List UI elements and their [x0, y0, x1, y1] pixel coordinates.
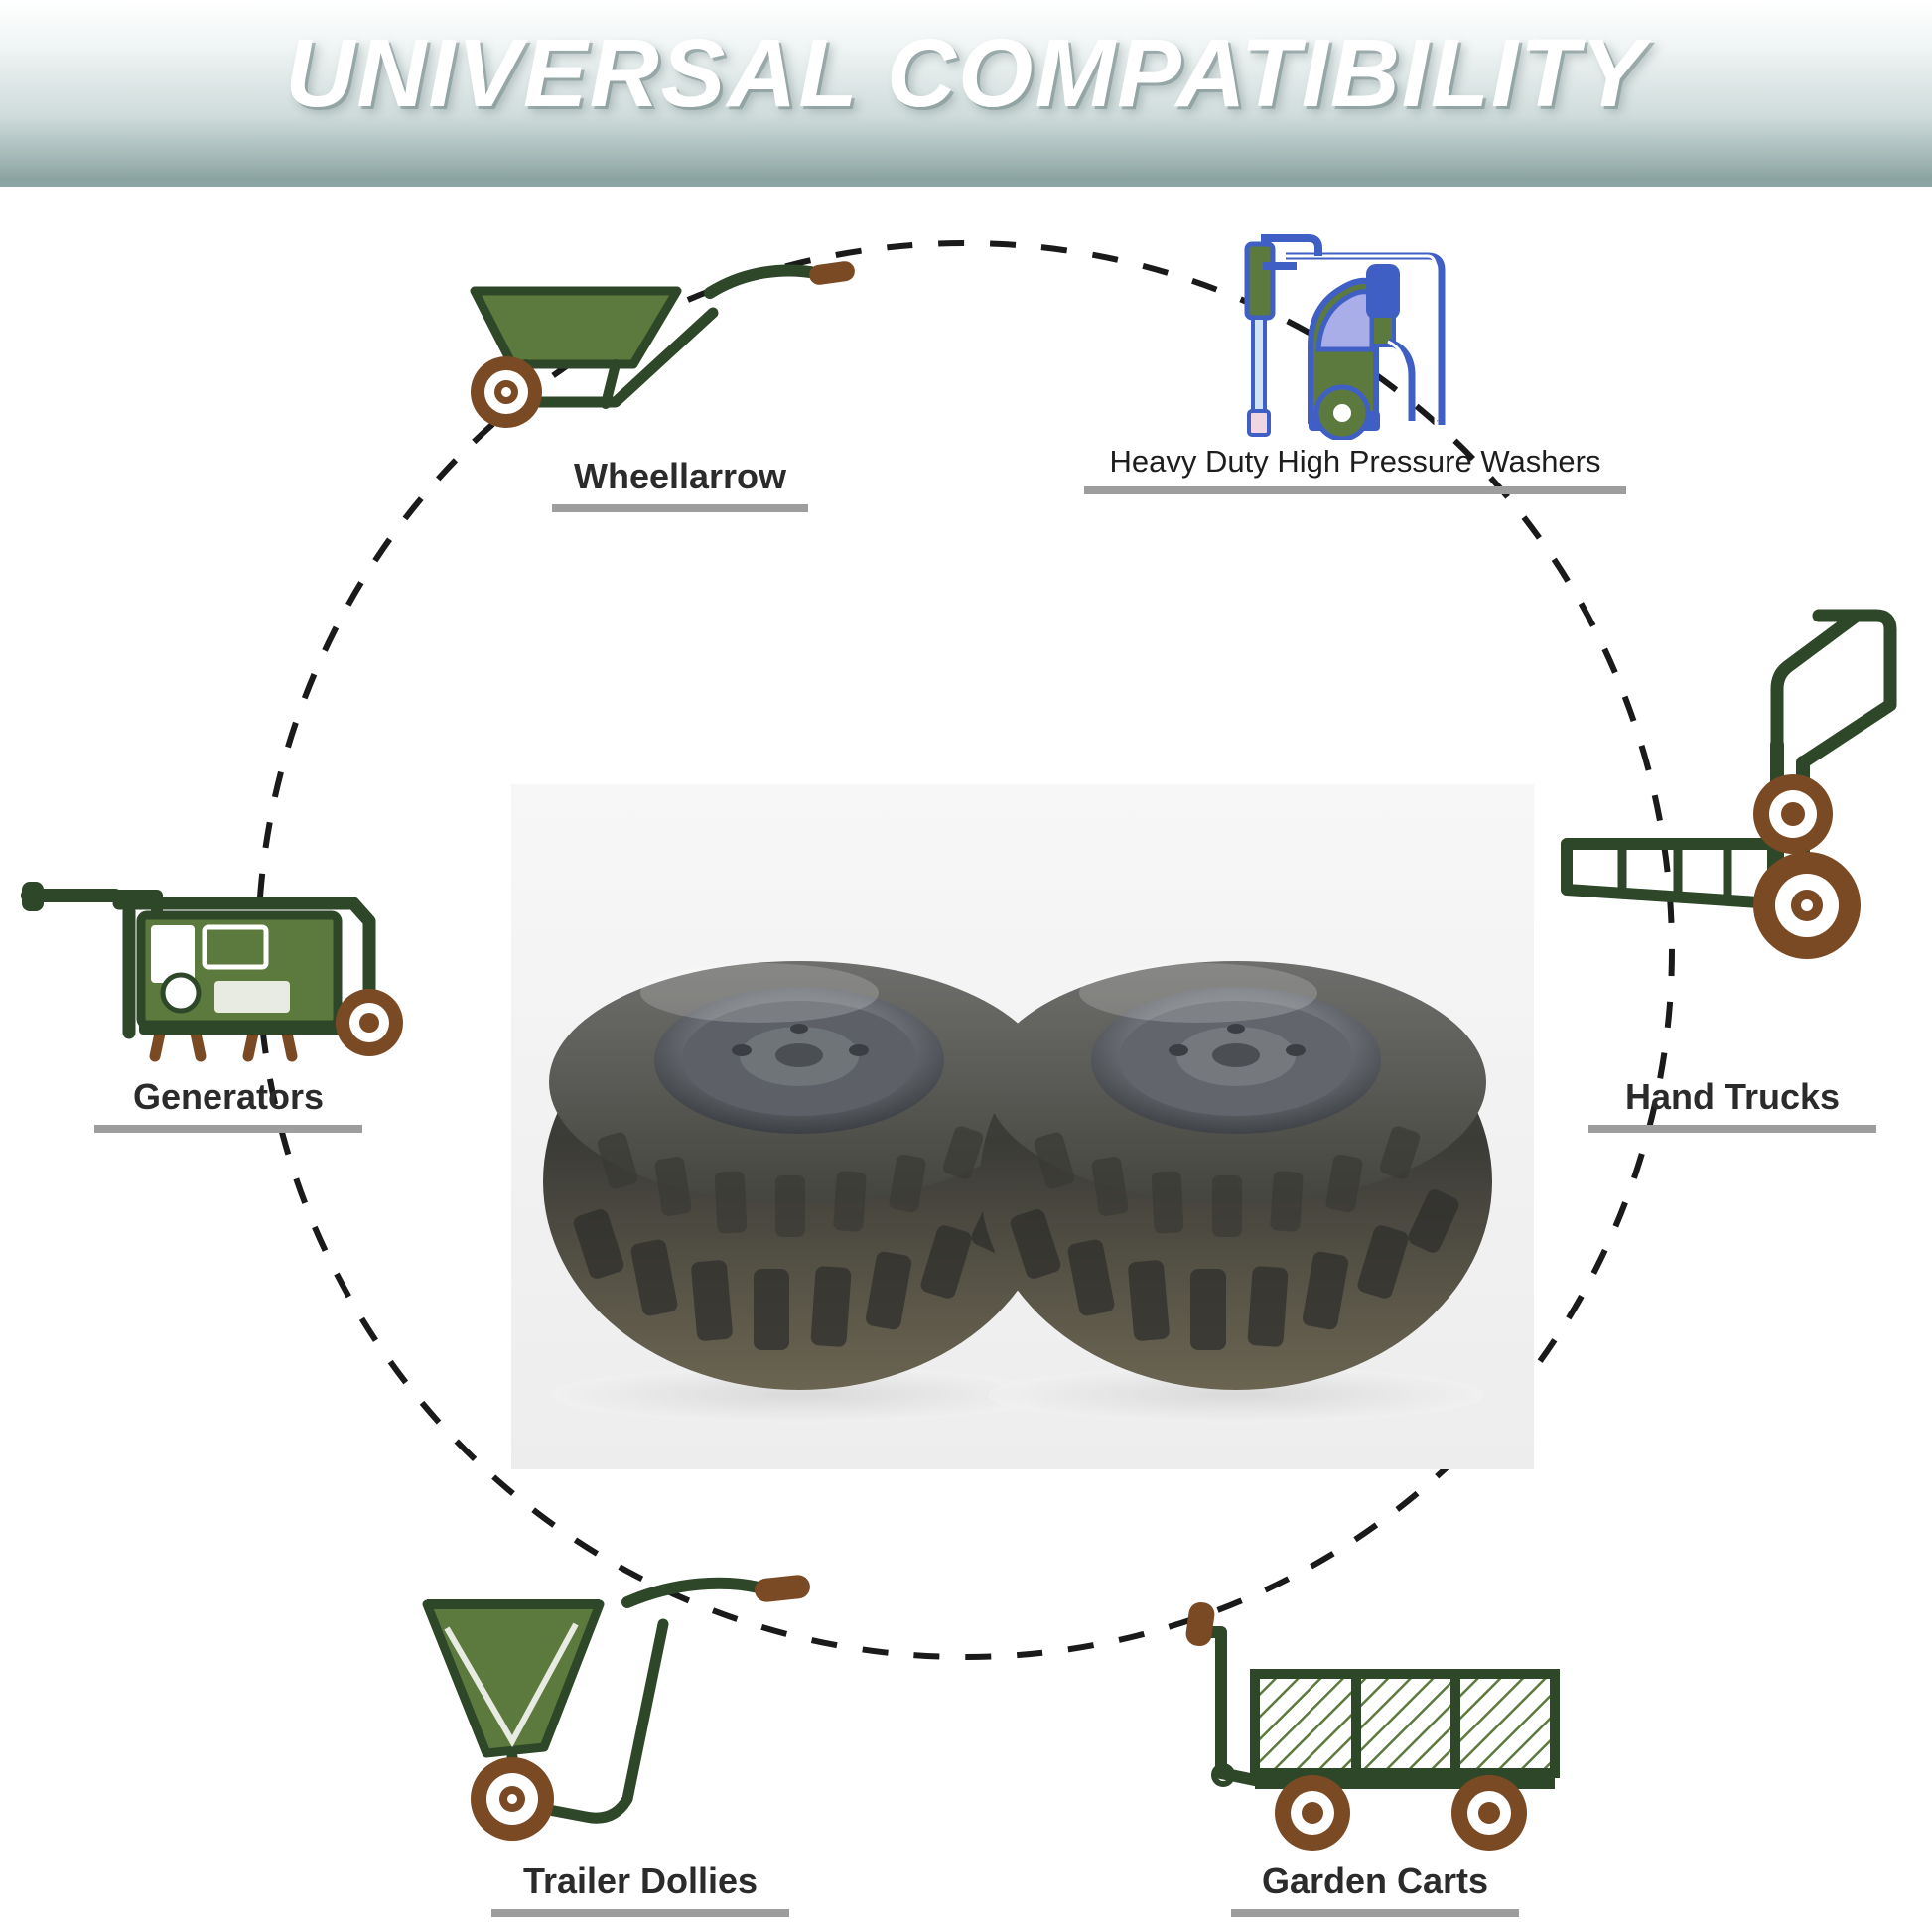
- item-label-generators: Generators: [20, 1077, 437, 1117]
- item-underline-wheelbarrow: [552, 504, 808, 512]
- hand-truck-icon: [1559, 596, 1906, 1077]
- item-garden-carts: Garden Carts: [1162, 1588, 1588, 1917]
- tire-left: [543, 961, 1055, 1423]
- item-label-wheelbarrow: Wheellarrow: [467, 457, 894, 496]
- item-wheelbarrow: Wheellarrow: [467, 253, 894, 512]
- item-underline-pressure-washers: [1084, 486, 1626, 494]
- trailer-dolly-icon: [417, 1569, 864, 1862]
- item-pressure-washers: Heavy Duty High Pressure Washers: [1077, 226, 1633, 494]
- pressure-washer-icon: [1077, 226, 1633, 445]
- item-generators: Generators: [20, 854, 437, 1133]
- tire-right: [980, 961, 1492, 1423]
- item-hand-trucks: Hand Trucks: [1559, 596, 1906, 1133]
- item-underline-trailer-dollies: [491, 1909, 789, 1917]
- item-label-hand-trucks: Hand Trucks: [1559, 1077, 1906, 1117]
- item-underline-hand-trucks: [1588, 1125, 1876, 1133]
- item-label-trailer-dollies: Trailer Dollies: [417, 1862, 864, 1901]
- wheelbarrow-icon: [467, 253, 894, 457]
- garden-cart-icon: [1162, 1588, 1588, 1862]
- item-label-pressure-washers: Heavy Duty High Pressure Washers: [1077, 445, 1633, 479]
- item-label-garden-carts: Garden Carts: [1162, 1862, 1588, 1901]
- item-trailer-dollies: Trailer Dollies: [417, 1569, 864, 1917]
- generator-icon: [20, 854, 437, 1077]
- item-underline-garden-carts: [1231, 1909, 1519, 1917]
- page-title: UNIVERSAL COMPATIBILITY: [0, 18, 1932, 129]
- item-underline-generators: [94, 1125, 362, 1133]
- product-photo: [511, 784, 1534, 1469]
- header-banner: UNIVERSAL COMPATIBILITY: [0, 0, 1932, 187]
